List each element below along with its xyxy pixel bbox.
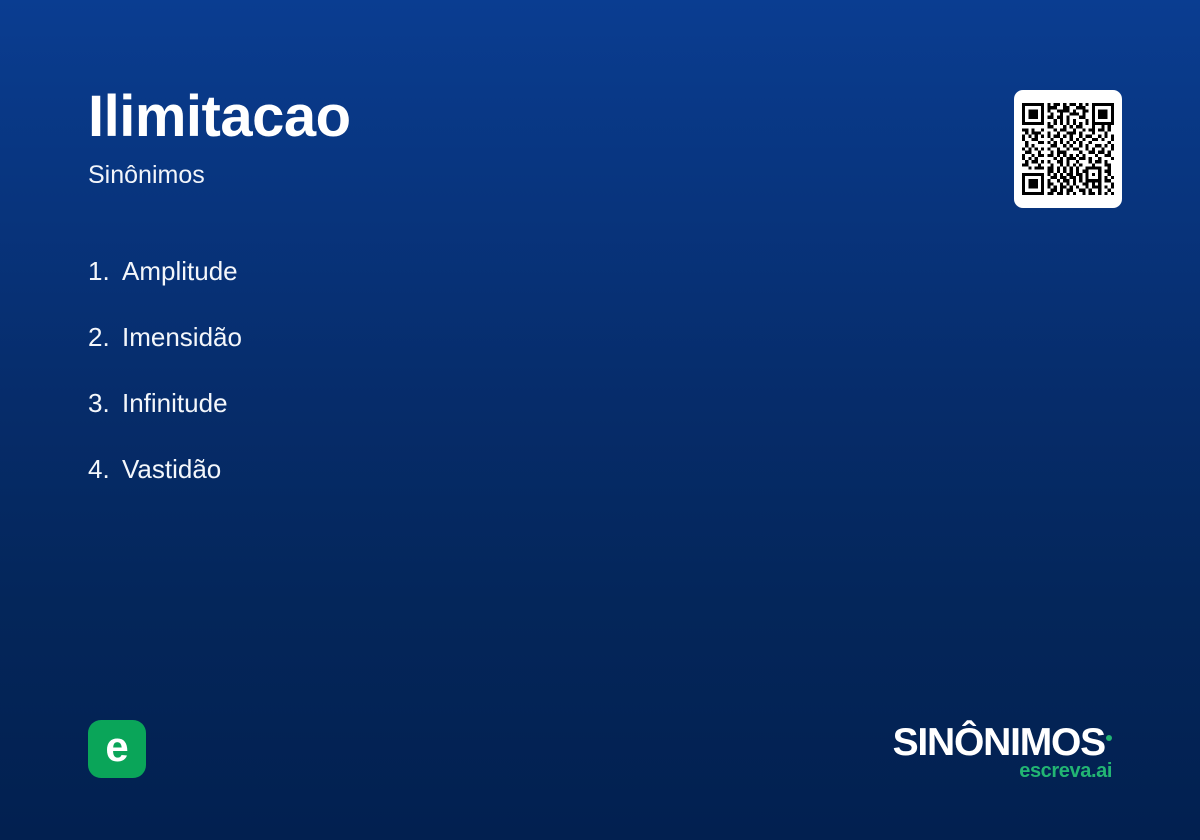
- list-item: 3. Infinitude: [88, 370, 242, 436]
- letter-e-icon: e: [105, 726, 128, 768]
- list-item-label: Vastidão: [122, 436, 221, 502]
- brand-logo-main: SINÔNIMOS: [893, 723, 1112, 762]
- list-item-label: Amplitude: [122, 238, 238, 304]
- list-item-index: 2.: [88, 304, 122, 370]
- qr-code-icon: [1022, 103, 1114, 195]
- synonyms-list: 1. Amplitude 2. Imensidão 3. Infinitude …: [88, 238, 242, 502]
- qr-code[interactable]: [1014, 90, 1122, 208]
- list-item-index: 3.: [88, 370, 122, 436]
- page-subtitle: Sinônimos: [88, 162, 1112, 190]
- escreva-app-icon[interactable]: e: [88, 720, 146, 778]
- list-item-index: 4.: [88, 436, 122, 502]
- brand-logo-main-text: SINÔNIMOS: [893, 721, 1105, 764]
- synonym-card: Ilimitacao Sinônimos: [0, 0, 1200, 840]
- list-item: 4. Vastidão: [88, 436, 242, 502]
- list-item-label: Imensidão: [122, 304, 242, 370]
- page-title: Ilimitacao: [88, 88, 1112, 146]
- brand-dot-icon: [1106, 735, 1112, 741]
- brand-logo: SINÔNIMOS escreva.ai: [893, 723, 1112, 782]
- list-item-index: 1.: [88, 238, 122, 304]
- list-item: 1. Amplitude: [88, 238, 242, 304]
- card-header: Ilimitacao Sinônimos: [88, 88, 1112, 190]
- list-item: 2. Imensidão: [88, 304, 242, 370]
- list-item-label: Infinitude: [122, 370, 228, 436]
